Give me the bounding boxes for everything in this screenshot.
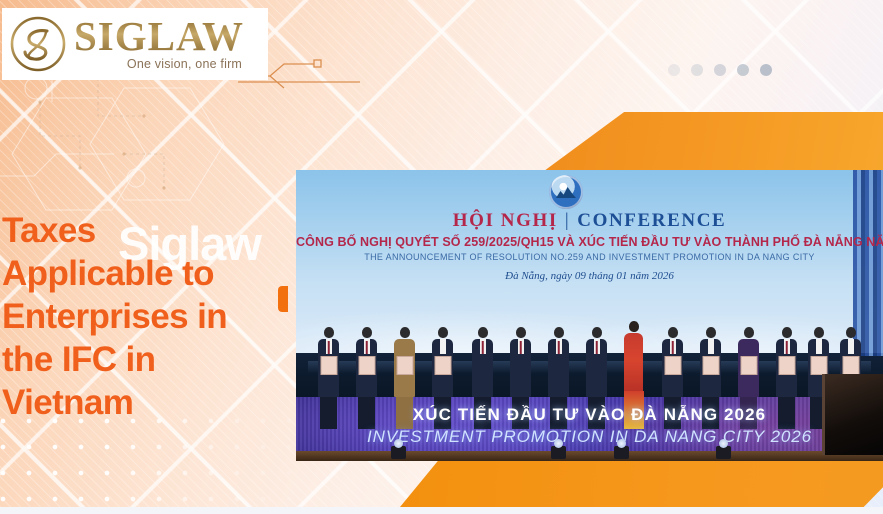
pager-dot-1[interactable]	[668, 64, 680, 76]
title-line-5: Vietnam	[2, 381, 302, 424]
stage-light-3	[614, 446, 629, 459]
bottom-edge-strip	[0, 507, 883, 514]
stage-light-4	[716, 446, 731, 459]
siglaw-circle-monogram-icon	[6, 12, 70, 76]
backdrop-date-line: Đà Nẵng, ngày 09 tháng 01 năm 2026	[296, 270, 883, 282]
pager-dot-4[interactable]	[737, 64, 749, 76]
backdrop-title-separator: |	[565, 210, 570, 231]
title-line-2: Applicable to	[2, 252, 302, 295]
brand-tagline: One vision, one firm	[74, 57, 244, 71]
da-nang-city-emblem-icon	[549, 175, 583, 209]
slide-pager[interactable]	[668, 64, 772, 76]
led-banner-line-en: INVESTMENT PROMOTION IN DA NANG CITY 202…	[296, 427, 883, 447]
page-title: Taxes Applicable to Enterprises in the I…	[2, 209, 302, 424]
led-banner-line-vi: XÚC TIẾN ĐẦU TƯ VÀO ĐÀ NẴNG 2026	[296, 405, 883, 425]
stage-apron	[296, 451, 883, 461]
slide-canvas: SIGLAW One vision, one firm Siglaw Taxes…	[0, 0, 883, 514]
stage-monitor	[822, 374, 883, 455]
brand-logo[interactable]: SIGLAW One vision, one firm	[2, 8, 268, 80]
brand-name: SIGLAW	[74, 17, 244, 55]
pager-dot-2[interactable]	[691, 64, 703, 76]
title-line-3: Enterprises in	[2, 295, 302, 338]
title-line-4: the IFC in	[2, 338, 302, 381]
backdrop-title: HỘI NGHỊ|CONFERENCE	[296, 210, 883, 232]
conference-photo[interactable]: HỘI NGHỊ|CONFERENCE CÔNG BỐ NGHỊ QUYẾT S…	[296, 170, 883, 461]
backdrop-subtitle-vi: CÔNG BỐ NGHỊ QUYẾT SỐ 259/2025/QH15 VÀ X…	[296, 235, 883, 249]
stage-light-1	[391, 446, 406, 459]
pager-dot-3[interactable]	[714, 64, 726, 76]
title-line-1: Taxes	[2, 209, 302, 252]
backdrop-title-vi: HỘI NGHỊ	[453, 210, 558, 231]
backdrop-title-en: CONFERENCE	[577, 210, 726, 231]
pager-dot-5[interactable]	[760, 64, 772, 76]
backdrop-subtitle-en: THE ANNOUNCEMENT OF RESOLUTION NO.259 AN…	[296, 252, 883, 262]
led-banner: XÚC TIẾN ĐẦU TƯ VÀO ĐÀ NẴNG 2026 INVESTM…	[296, 397, 883, 451]
stage-light-2	[551, 446, 566, 459]
orange-trapezoid-bottom	[400, 460, 883, 507]
